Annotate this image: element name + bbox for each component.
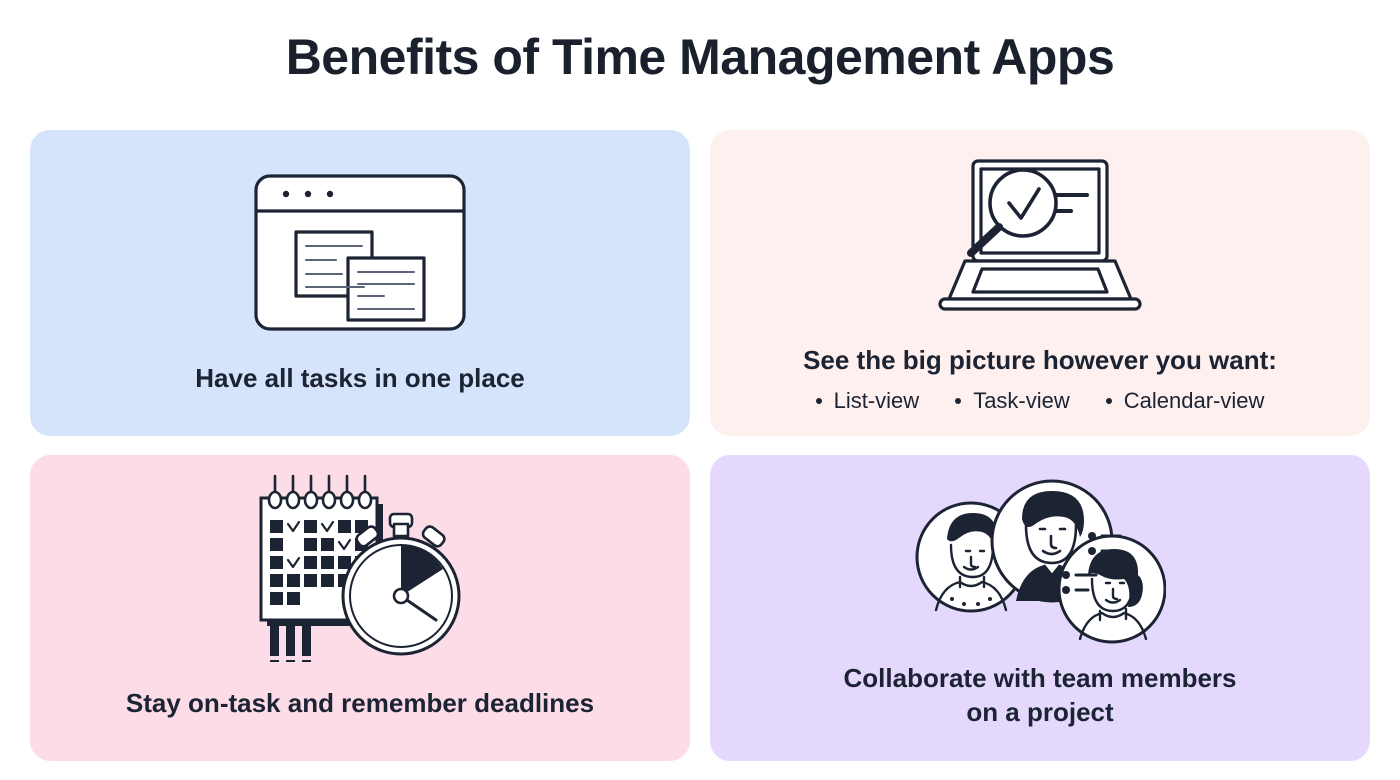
benefit-card-collaborate: Collaborate with team members on a proje… <box>710 455 1370 761</box>
card-heading: Have all tasks in one place <box>30 362 690 395</box>
laptop-magnifier-check-icon <box>710 152 1370 320</box>
benefit-card-tasks-one-place: Have all tasks in one place <box>30 130 690 436</box>
view-option-calendar-view[interactable]: Calendar-view <box>1106 388 1265 414</box>
view-option-label: Task-view <box>973 388 1070 414</box>
bullet-dot-icon <box>1106 398 1112 404</box>
card-heading-line-2: on a project <box>710 695 1370 729</box>
benefit-card-big-picture: See the big picture however you want: Li… <box>710 130 1370 436</box>
calendar-stopwatch-alert-icon <box>30 473 690 663</box>
page-title: Benefits of Time Management Apps <box>0 30 1400 85</box>
view-options-list: List-view Task-view Calendar-view <box>710 388 1370 414</box>
card-heading: Stay on-task and remember deadlines <box>30 687 690 720</box>
view-option-list-view[interactable]: List-view <box>816 388 920 414</box>
card-heading: Collaborate with team members on a proje… <box>710 661 1370 730</box>
view-option-label: List-view <box>834 388 920 414</box>
team-avatars-icon <box>710 475 1370 650</box>
browser-window-documents-icon <box>30 160 690 345</box>
card-heading: See the big picture however you want: <box>710 344 1370 377</box>
infographic-page: Benefits of Time Management Apps <box>0 0 1400 780</box>
card-heading-line-1: Collaborate with team members <box>710 661 1370 695</box>
bullet-dot-icon <box>955 398 961 404</box>
view-option-task-view[interactable]: Task-view <box>955 388 1070 414</box>
bullet-dot-icon <box>816 398 822 404</box>
benefit-card-stay-on-task: Stay on-task and remember deadlines <box>30 455 690 761</box>
view-option-label: Calendar-view <box>1124 388 1265 414</box>
